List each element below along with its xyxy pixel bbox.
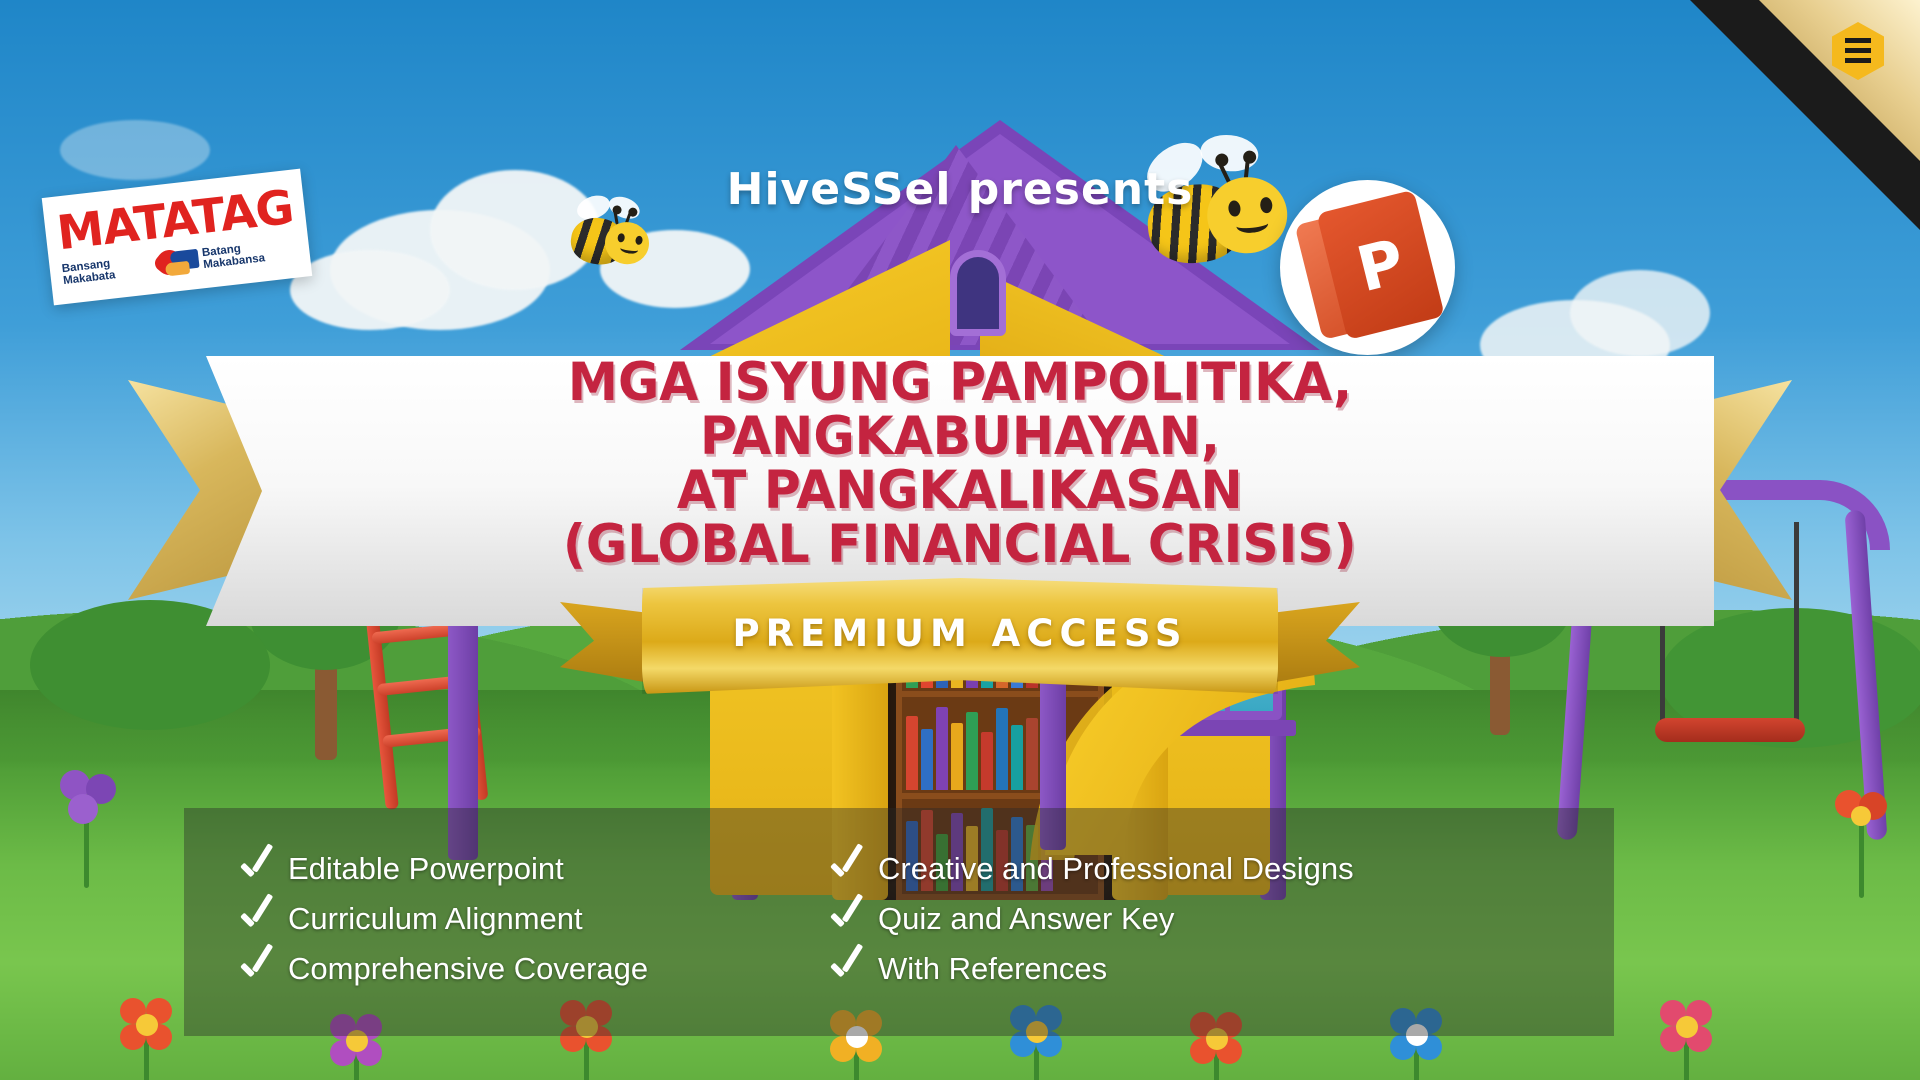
features-right-column: Creative and Professional Designs Quiz a…	[824, 849, 1564, 989]
page-title-line-1: MGA ISYUNG PAMPOLITIKA, PANGKABUHAYAN,	[358, 356, 1563, 464]
cloud-icon	[290, 250, 450, 330]
feature-label: Comprehensive Coverage	[288, 951, 648, 987]
page-title-line-3: (GLOBAL FINANCIAL CRISIS)	[563, 518, 1357, 572]
feature-label: Quiz and Answer Key	[878, 901, 1174, 937]
matatag-tagline-right: Batang Makabansa	[201, 236, 298, 271]
check-icon	[824, 849, 864, 889]
features-panel: Editable Powerpoint Curriculum Alignment…	[184, 808, 1614, 1036]
check-icon	[234, 849, 274, 889]
powerpoint-icon: P	[1280, 180, 1455, 355]
feature-label: Creative and Professional Designs	[878, 851, 1354, 887]
matatag-tagline-left: Bansang Makabata	[61, 252, 158, 287]
page-title-line-2: AT PANGKALIKASAN	[677, 464, 1243, 518]
heart-hands-icon	[155, 244, 204, 279]
feature-item: Creative and Professional Designs	[824, 849, 1564, 889]
feature-label: Editable Powerpoint	[288, 851, 564, 887]
feature-item: With References	[824, 949, 1564, 989]
cloud-icon	[1570, 270, 1710, 356]
poster-canvas: MATATAG Bansang Makabata Batang Makabans…	[0, 0, 1920, 1080]
feature-item: Comprehensive Coverage	[234, 949, 824, 989]
cloud-icon	[60, 120, 210, 180]
feature-item: Editable Powerpoint	[234, 849, 824, 889]
check-icon	[234, 949, 274, 989]
premium-access-ribbon: PREMIUM ACCESS	[560, 578, 1360, 706]
hexagon-logo-icon	[1832, 22, 1884, 80]
check-icon	[824, 949, 864, 989]
check-icon	[234, 899, 274, 939]
feature-item: Quiz and Answer Key	[824, 899, 1564, 939]
premium-access-label: PREMIUM ACCESS	[732, 612, 1187, 655]
check-icon	[824, 899, 864, 939]
feature-label: With References	[878, 951, 1107, 987]
feature-item: Curriculum Alignment	[234, 899, 824, 939]
powerpoint-letter: P	[1349, 223, 1411, 305]
presents-tagline: HiveSSel presents	[660, 164, 1260, 215]
page-curl-corner	[1690, 0, 1920, 230]
bee-icon	[561, 190, 663, 280]
features-left-column: Editable Powerpoint Curriculum Alignment…	[234, 849, 824, 989]
feature-label: Curriculum Alignment	[288, 901, 583, 937]
ribbon-band: PREMIUM ACCESS	[642, 578, 1278, 694]
